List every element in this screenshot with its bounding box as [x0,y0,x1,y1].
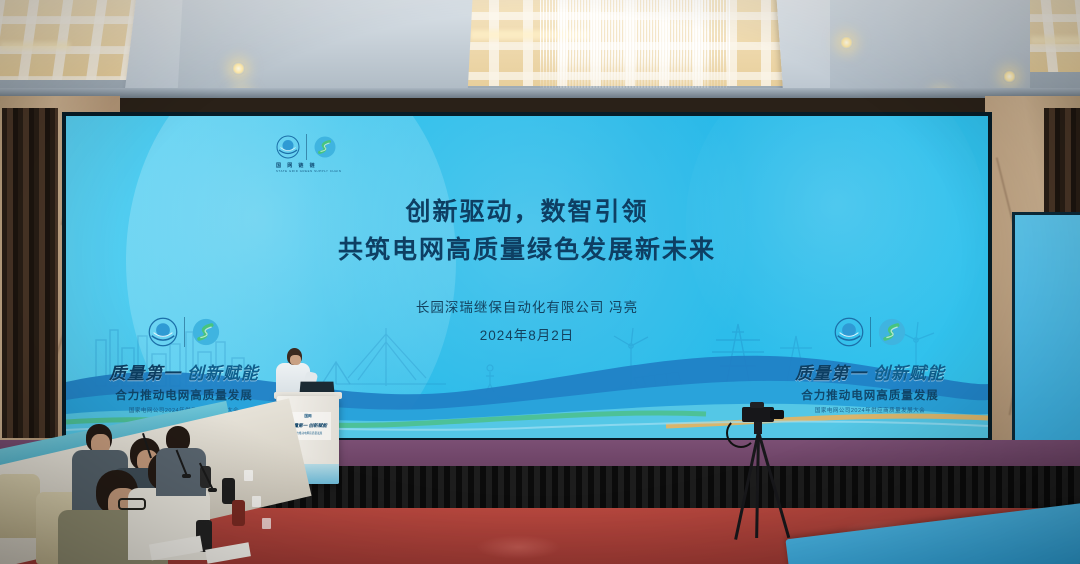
banner-subhead: 合力推动电网高质量发展 [770,387,970,403]
camera-lens [770,410,784,419]
water-cup [252,496,261,507]
ceiling-beam [177,0,473,96]
banner-subhead: 合力推动电网高质量发展 [84,387,284,403]
microphone-base [208,488,217,492]
slide-title: 创新驱动，数智引领 共筑电网高质量绿色发展新未来 [66,194,988,269]
banner-headline-part1: 质量第一 [109,364,181,383]
thermos [232,500,245,526]
ceiling-beam [830,0,1030,96]
ceiling-coffer-panel [0,0,146,80]
side-led-panel [1012,212,1080,468]
event-banner-left: 质量第一 创新赋能 合力推动电网高质量发展 国家电网公司2024年供应商质量发展… [84,317,284,414]
state-grid-emblem-icon [834,317,864,347]
recessed-downlight [232,62,245,75]
eyeglasses [118,498,146,510]
conference-hall-photo: 国 网 链 链 STATE GRID GREEN SUPPLY CHAIN 创新… [0,0,1080,564]
slide-title-line2: 共筑电网高质量绿色发展新未来 [66,232,988,270]
banner-headline-part2: 创新赋能 [187,364,259,383]
curtain-left [2,108,58,438]
ceiling-light-strip [0,42,70,50]
slide-top-logo: 国 网 链 链 STATE GRID GREEN SUPPLY CHAIN [276,134,342,173]
ceiling-light-strip [1030,36,1080,45]
event-banner-right: 质量第一 创新赋能 合力推动电网高质量发展 国家电网公司2024年供应商质量发展… [770,317,970,414]
camera-top-handle [750,402,764,408]
banner-headline: 质量第一 创新赋能 [770,359,970,384]
green-supply-chain-swoosh-icon [877,317,907,347]
camera-cable [726,418,756,448]
water-cup [262,518,271,529]
led-screen: 国 网 链 链 STATE GRID GREEN SUPPLY CHAIN 创新… [62,112,992,442]
chair [0,474,40,538]
banner-headline: 质量第一 创新赋能 [84,359,284,384]
banner-headline-part1: 质量第一 [795,364,867,383]
banner-headline-part2: 创新赋能 [873,364,945,383]
ceiling [0,0,1080,96]
crystal-chandelier [560,0,710,96]
recessed-downlight [840,36,853,49]
presentation-slide: 国 网 链 链 STATE GRID GREEN SUPPLY CHAIN 创新… [66,116,988,438]
green-supply-chain-swoosh-icon [313,135,337,159]
microphone-base [182,474,191,478]
state-grid-emblem-icon [276,135,300,159]
slide-title-line1: 创新驱动，数智引领 [66,194,988,232]
state-grid-emblem-icon [148,317,178,347]
recessed-downlight [1003,70,1016,83]
logo-caption-cn: 国 网 链 链 [276,162,342,169]
green-supply-chain-swoosh-icon [191,317,221,347]
water-cup [244,470,253,481]
speaker-face [290,355,301,365]
logo-caption-en: STATE GRID GREEN SUPPLY CHAIN [276,169,342,173]
banner-footnote: 国家电网公司2024年供应商质量发展大会 [770,406,970,414]
ceiling-edge [0,88,1080,98]
